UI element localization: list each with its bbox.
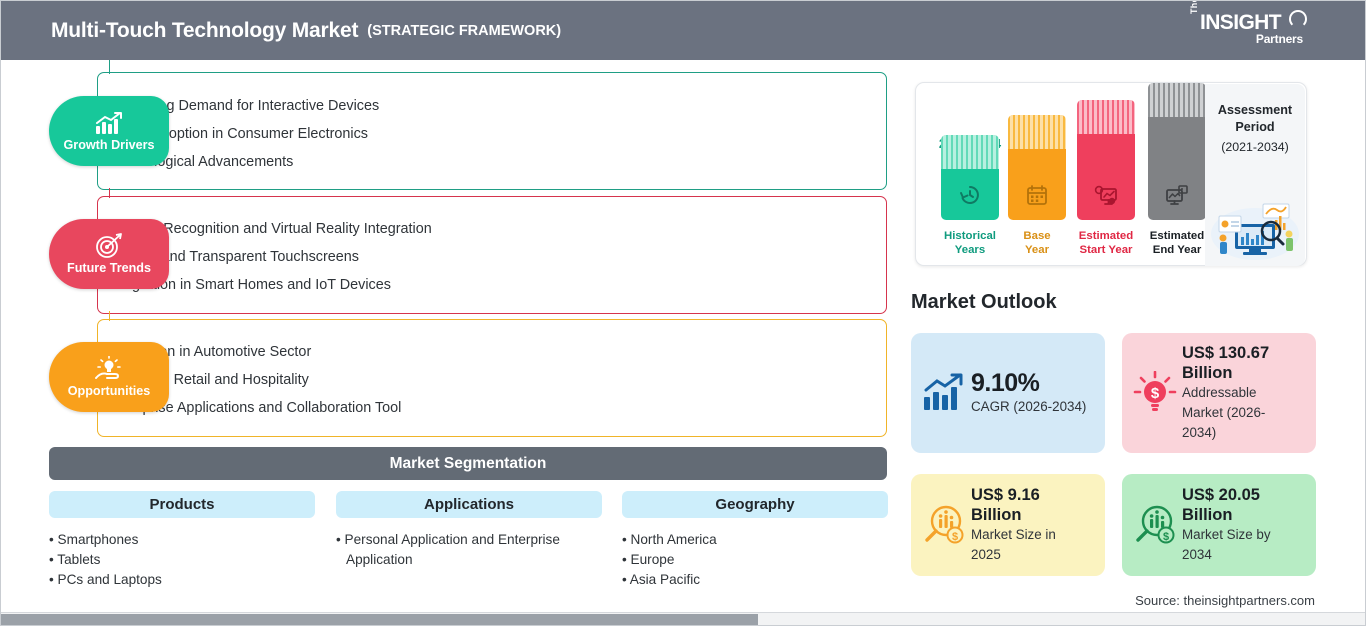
badge-future-trends[interactable]: Future Trends [49,219,169,289]
bar-caption-line2: Year [1025,244,1049,256]
list-item: Tablets [49,550,315,570]
outlook-card-label: Addressable Market (2026-2034) [1182,383,1294,443]
market-outlook-title: Market Outlook [911,291,1057,314]
outlook-card-label: Market Size by 2034 [1182,525,1288,565]
bar-solid-bottom [941,169,999,220]
history-clock-icon [959,184,981,211]
page-title: Multi-Touch Technology Market [51,19,358,43]
segmentation-column-geography: Geography North America Europe Asia Paci… [622,491,888,590]
monitor-image-icon [1165,184,1189,211]
assessment-period-title: Assessment Period [1205,102,1305,136]
outlook-card-label: CAGR (2026-2034) [971,397,1086,417]
page-header: Multi-Touch Technology Market (STRATEGIC… [1,1,1366,60]
calendar-icon [1026,184,1048,211]
bar-solid-bottom [1148,117,1206,220]
bar-solid-bottom [1008,149,1066,220]
bar-shape [941,135,999,220]
assessment-period-panel: 2021-2024 Historical Years [915,82,1307,266]
bar-caption: Estimated End Year [1150,229,1204,257]
logo-ring-icon [1289,10,1307,28]
target-dartboard-icon [94,233,124,259]
svg-text:$: $ [1151,385,1160,402]
bar-shape [1077,100,1135,220]
page-subtitle: (STRATEGIC FRAMEWORK) [367,23,561,39]
badge-growth-drivers[interactable]: Growth Drivers [49,96,169,166]
bar-shape [1008,115,1066,220]
bar-caption: Historical Years [944,229,996,257]
list-item: Asia Pacific [622,570,888,590]
outlook-card-value: US$ 130.67 Billion [1182,343,1294,383]
outlook-card-value: 9.10% [971,369,1086,397]
bar-chart-up-icon [921,373,967,413]
outlook-card-market-size-2034: $ US$ 20.05 Billion Market Size by 2034 [1122,474,1316,576]
bar-caption-line2: End Year [1153,244,1202,256]
badge-label-opportunities: Opportunities [68,384,151,398]
assessment-bar-start: 2026 Estimated [1067,87,1145,257]
svg-text:$: $ [952,531,958,543]
outlook-card-text: US$ 9.16 Billion Market Size in 2025 [971,485,1089,565]
horizontal-scrollbar-thumb[interactable] [1,614,758,625]
list-item: Smartphones [49,530,315,550]
outlook-card-cagr: 9.10% CAGR (2026-2034) [911,333,1105,453]
bar-solid-bottom [1077,134,1135,220]
segmentation-column-products: Products Smartphones Tablets PCs and Lap… [49,491,315,590]
segmentation-list-geography: North America Europe Asia Pacific [622,530,888,590]
badge-opportunities[interactable]: Opportunities [49,342,169,412]
list-item: North America [622,530,888,550]
list-item: Europe [622,550,888,570]
outlook-card-text: US$ 20.05 Billion Market Size by 2034 [1182,485,1288,565]
bar-caption-line1: Base [1023,230,1050,242]
connector-top-growth-drivers [109,60,110,74]
outlook-card-text: US$ 130.67 Billion Addressable Market (2… [1182,343,1294,443]
segmentation-list-products: Smartphones Tablets PCs and Laptops [49,530,315,590]
outlook-card-addressable-market: $ US$ 130.67 Billion Addressable Market … [1122,333,1316,453]
bar-caption-line1: Estimated [1079,230,1133,242]
bar-caption-line2: Years [955,244,985,256]
badge-label-growth-drivers: Growth Drivers [64,138,155,152]
bar-caption: Estimated Start Year [1079,229,1133,257]
source-text: Source: theinsightpartners.com [1135,593,1315,608]
segmentation-pill-products: Products [49,491,315,518]
bar-caption-line2: Start Year [1080,244,1133,256]
monitor-settings-icon [1094,184,1118,211]
svg-text:$: $ [1163,531,1169,543]
horizontal-scrollbar-track[interactable] [1,612,1366,625]
bar-shape [1148,83,1206,220]
segmentation-column-applications: Applications Personal Application and En… [336,491,602,570]
connector-top-future-trends [109,188,110,198]
lightbulb-dollar-icon: $ [1132,371,1178,415]
lightbulb-in-hand-icon [93,356,125,382]
connector-top-opportunities [109,311,110,321]
outlook-card-label: Market Size in 2025 [971,525,1089,565]
bar-hatch-top [1008,115,1066,149]
logo-partners-text: Partners [1256,32,1303,46]
growth-chart-arrow-icon [94,110,124,136]
bar-hatch-top [1148,83,1206,117]
list-item: Personal Application and Enterprise Appl… [336,530,581,570]
outlook-card-value: US$ 9.16 Billion [971,485,1089,525]
outlook-card-value: US$ 20.05 Billion [1182,485,1288,525]
insight-partners-logo: The INSIGHT Partners [1189,11,1309,51]
bar-hatch-top [1077,100,1135,134]
bar-caption-line1: Estimated [1150,230,1204,242]
bar-hatch-top [941,135,999,169]
badge-label-future-trends: Future Trends [67,261,151,275]
assessment-bar-historical: 2021-2024 Historical Years [934,87,1006,257]
segmentation-pill-geography: Geography [622,491,888,518]
assessment-period-years: (2021-2034) [1205,140,1305,154]
magnifier-chart-dollar-icon: $ [921,504,967,546]
outlook-card-market-size-2025: $ US$ 9.16 Billion Market Size in 2025 [911,474,1105,576]
logo-the-text: The [1189,0,1199,14]
segmentation-header: Market Segmentation [49,447,887,480]
assessment-bar-base: 2025 [1001,87,1073,257]
bar-caption: Base Year [1023,229,1050,257]
segmentation-pill-applications: Applications [336,491,602,518]
assessment-side-panel: Assessment Period (2021-2034) [1205,84,1305,266]
infographic-page: Multi-Touch Technology Market (STRATEGIC… [0,0,1366,626]
segmentation-list-applications: Personal Application and Enterprise Appl… [336,530,602,570]
bar-caption-line1: Historical [944,230,996,242]
magnifier-chart-dollar-icon: $ [1132,504,1178,546]
list-item: PCs and Laptops [49,570,315,590]
outlook-card-text: 9.10% CAGR (2026-2034) [971,369,1086,417]
